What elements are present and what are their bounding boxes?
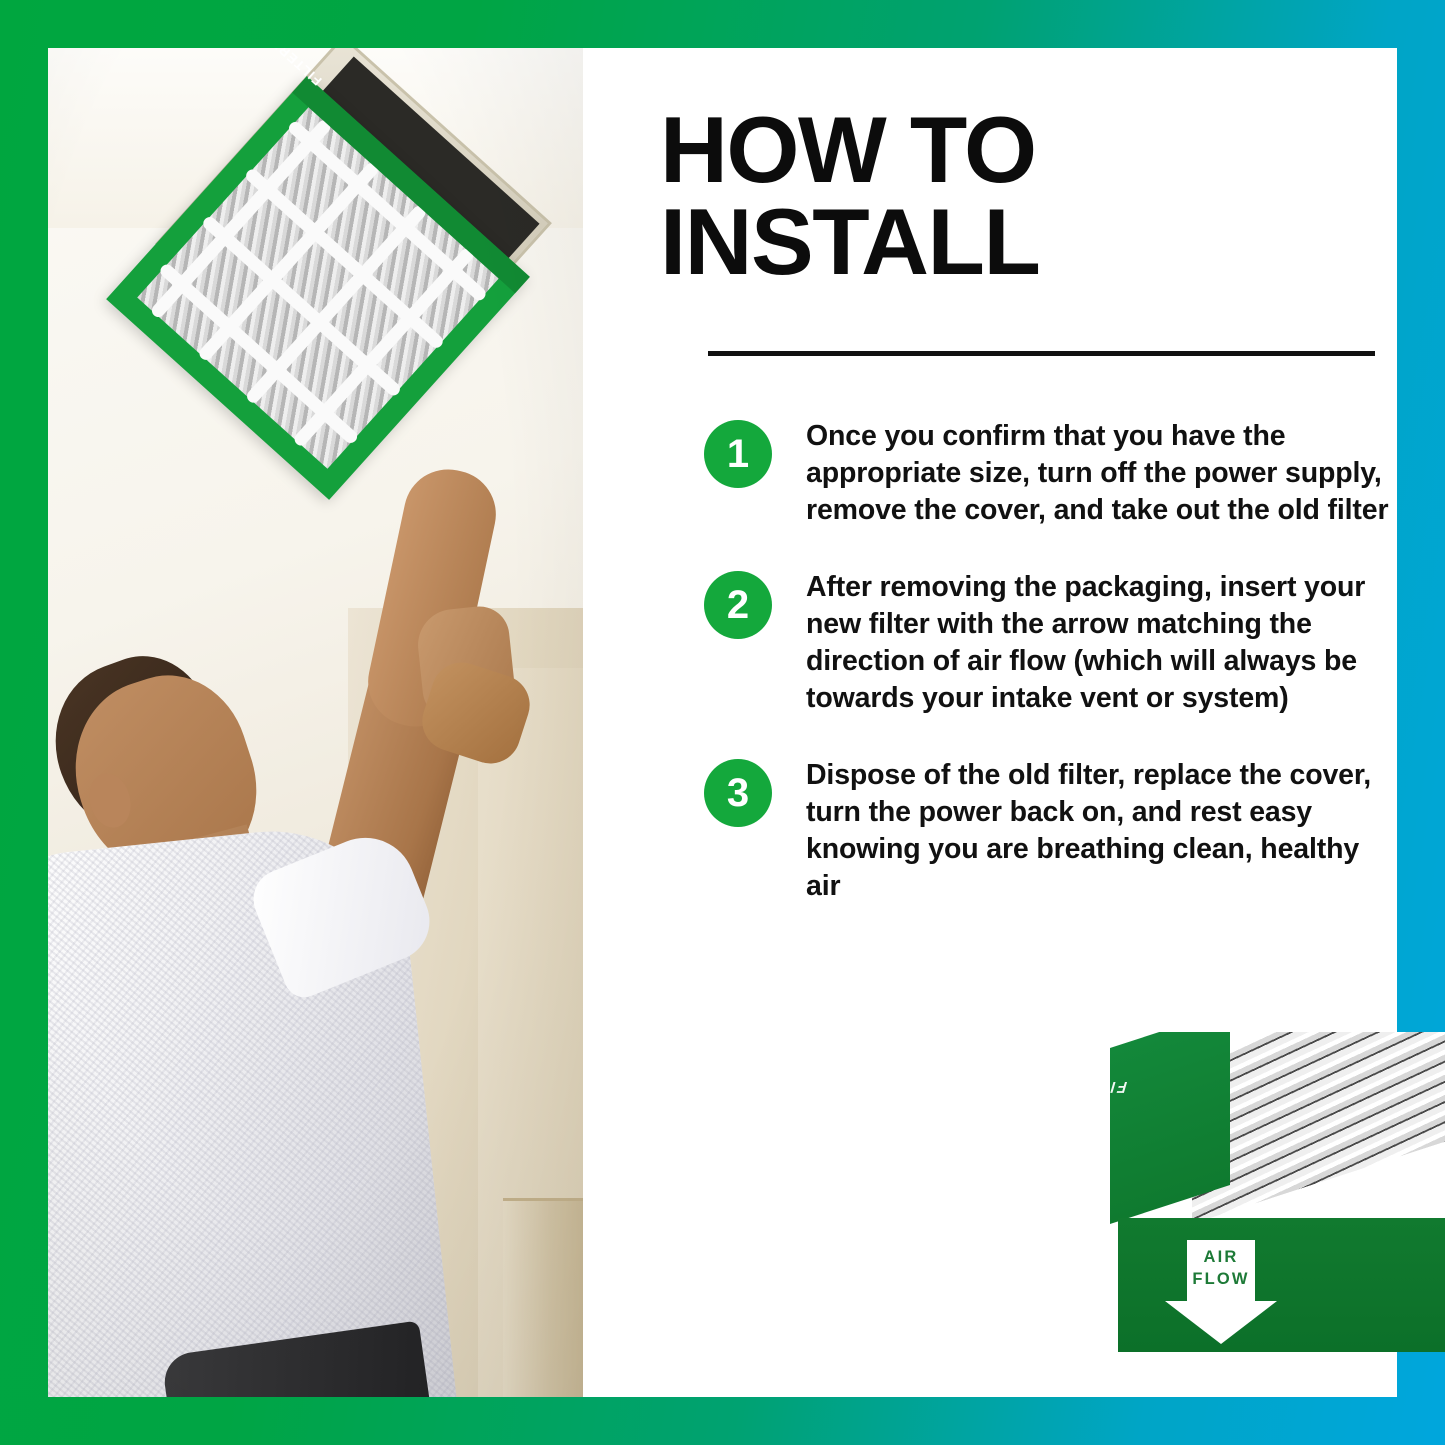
page-title-line-1: HOW TO bbox=[660, 104, 1360, 196]
install-photo: FILTERBUY bbox=[48, 48, 583, 1397]
step-number-badge: 1 bbox=[704, 420, 772, 488]
step-number-badge: 2 bbox=[704, 571, 772, 639]
step-item: 1 Once you confirm that you have the app… bbox=[704, 418, 1394, 529]
step-text: Once you confirm that you have the appro… bbox=[806, 418, 1394, 529]
steps-list: 1 Once you confirm that you have the app… bbox=[704, 418, 1394, 946]
photo-vignette bbox=[48, 48, 583, 1397]
step-item: 3 Dispose of the old filter, replace the… bbox=[704, 757, 1394, 905]
white-card: FILTERBUY HOW TO INSTALL bbox=[48, 48, 1397, 1397]
poster-root: FILTERBUY HOW TO INSTALL bbox=[0, 0, 1445, 1445]
page-title-line-2: INSTALL bbox=[660, 196, 1360, 288]
step-item: 2 After removing the packaging, insert y… bbox=[704, 569, 1394, 717]
content-column: HOW TO INSTALL 1 Once you confirm that y… bbox=[660, 48, 1397, 1397]
page-title: HOW TO INSTALL bbox=[660, 104, 1360, 288]
step-number-badge: 3 bbox=[704, 759, 772, 827]
step-text: Dispose of the old filter, replace the c… bbox=[806, 757, 1394, 905]
title-divider bbox=[708, 351, 1375, 356]
step-text: After removing the packaging, insert you… bbox=[806, 569, 1394, 717]
